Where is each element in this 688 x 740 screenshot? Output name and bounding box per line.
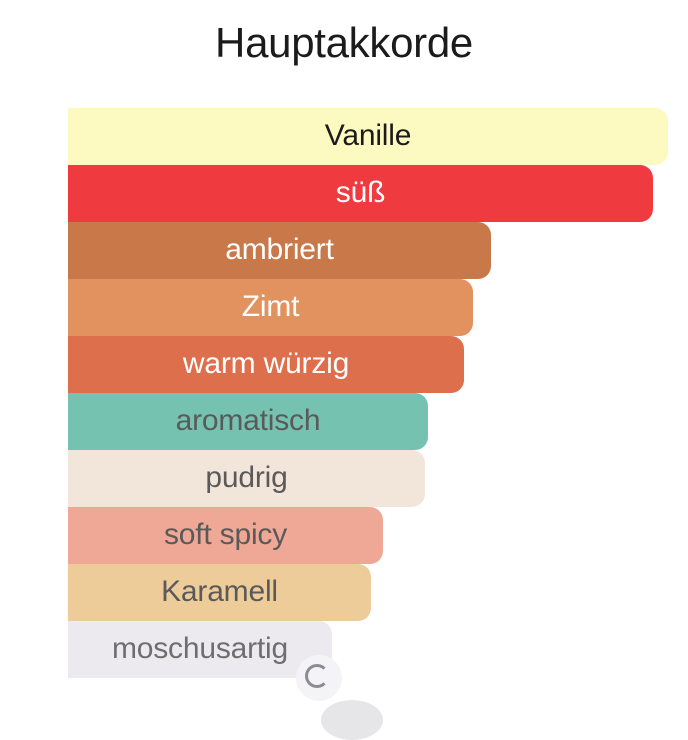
bar-pudrig[interactable]: pudrig — [68, 450, 425, 507]
bar-label: moschusartig — [112, 634, 288, 666]
bar-row: Vanille — [68, 108, 668, 165]
accords-chart-page: Hauptakkorde VanillesüßambriertZimtwarm … — [0, 0, 688, 712]
partial-bottom-element — [321, 700, 383, 740]
bar-label: Karamell — [161, 577, 278, 609]
bar-row: Karamell — [68, 564, 668, 621]
bar-label: aromatisch — [176, 406, 321, 438]
bar-label: soft spicy — [164, 520, 287, 552]
bar-row: soft spicy — [68, 507, 668, 564]
bar-aromatisch[interactable]: aromatisch — [68, 393, 428, 450]
bar-süß[interactable]: süß — [68, 165, 653, 222]
bar-row: warm würzig — [68, 336, 668, 393]
bar-zimt[interactable]: Zimt — [68, 279, 473, 336]
bar-chart: VanillesüßambriertZimtwarm würzigaromati… — [68, 108, 668, 678]
bar-vanille[interactable]: Vanille — [68, 108, 668, 165]
bar-ambriert[interactable]: ambriert — [68, 222, 491, 279]
bar-label: ambriert — [225, 235, 333, 267]
bar-warm-würzig[interactable]: warm würzig — [68, 336, 464, 393]
bar-karamell[interactable]: Karamell — [68, 564, 371, 621]
bar-row: süß — [68, 165, 668, 222]
bar-row: aromatisch — [68, 393, 668, 450]
bar-row: ambriert — [68, 222, 668, 279]
bar-row: moschusartig — [68, 621, 668, 678]
bar-soft-spicy[interactable]: soft spicy — [68, 507, 383, 564]
bar-moschusartig[interactable]: moschusartig — [68, 621, 332, 678]
bar-label: süß — [336, 178, 385, 210]
bar-row: pudrig — [68, 450, 668, 507]
bar-label: Vanille — [325, 121, 411, 153]
partial-refresh-icon[interactable] — [296, 655, 342, 701]
bar-label: Zimt — [242, 292, 300, 324]
page-title: Hauptakkorde — [0, 22, 688, 64]
bar-label: warm würzig — [183, 349, 349, 381]
bar-label: pudrig — [205, 463, 287, 495]
bar-row: Zimt — [68, 279, 668, 336]
